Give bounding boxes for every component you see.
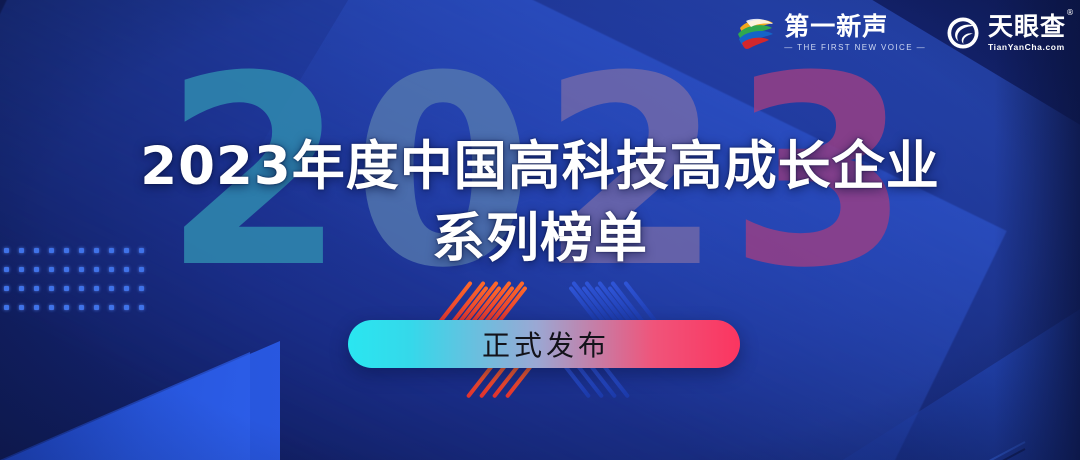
dot bbox=[64, 305, 69, 310]
dot bbox=[64, 286, 69, 291]
dot bbox=[4, 305, 9, 310]
logo-tianyancha-cn-text: 天眼查 bbox=[988, 12, 1066, 41]
dot bbox=[139, 305, 144, 310]
logo-group: 第一新声 — THE FIRST NEW VOICE — 天眼查® TianYa… bbox=[736, 14, 1066, 52]
dot bbox=[94, 305, 99, 310]
dot bbox=[139, 286, 144, 291]
page-title: 2023年度中国高科技高成长企业 系列榜单 bbox=[0, 131, 1080, 275]
dot bbox=[124, 305, 129, 310]
logo-first-new-voice[interactable]: 第一新声 — THE FIRST NEW VOICE — bbox=[736, 14, 926, 52]
dot bbox=[124, 286, 129, 291]
release-announcement-button[interactable]: 正式发布 bbox=[348, 320, 740, 368]
dot bbox=[79, 305, 84, 310]
ribbon-swirl-logo-icon bbox=[736, 16, 776, 50]
dot bbox=[34, 286, 39, 291]
release-announcement-label: 正式发布 bbox=[478, 324, 610, 364]
dot bbox=[4, 286, 9, 291]
aperture-eye-logo-icon bbox=[946, 16, 980, 50]
logo-first-new-voice-text: 第一新声 — THE FIRST NEW VOICE — bbox=[784, 14, 926, 52]
dot bbox=[109, 305, 114, 310]
logo-first-new-voice-cn: 第一新声 bbox=[784, 14, 926, 39]
logo-tianyancha-en: TianYanCha.com bbox=[988, 42, 1066, 52]
dot bbox=[34, 305, 39, 310]
logo-tianyancha-text: 天眼查® TianYanCha.com bbox=[988, 14, 1066, 52]
dot bbox=[19, 286, 24, 291]
logo-tianyancha-cn: 天眼查® bbox=[988, 14, 1066, 39]
poster-banner: 2023 2023年度中国高科技高成长企业 系列榜单 正式发布 bbox=[0, 0, 1080, 460]
dot bbox=[94, 286, 99, 291]
logo-first-new-voice-en: — THE FIRST NEW VOICE — bbox=[784, 43, 926, 52]
logo-tianyancha[interactable]: 天眼查® TianYanCha.com bbox=[946, 14, 1066, 52]
dot bbox=[49, 305, 54, 310]
dot bbox=[109, 286, 114, 291]
trademark-icon: ® bbox=[1066, 9, 1075, 17]
dot bbox=[49, 286, 54, 291]
title-line-1: 2023年度中国高科技高成长企业 bbox=[0, 131, 1080, 203]
title-line-2: 系列榜单 bbox=[0, 203, 1080, 275]
dot bbox=[19, 305, 24, 310]
dot bbox=[79, 286, 84, 291]
